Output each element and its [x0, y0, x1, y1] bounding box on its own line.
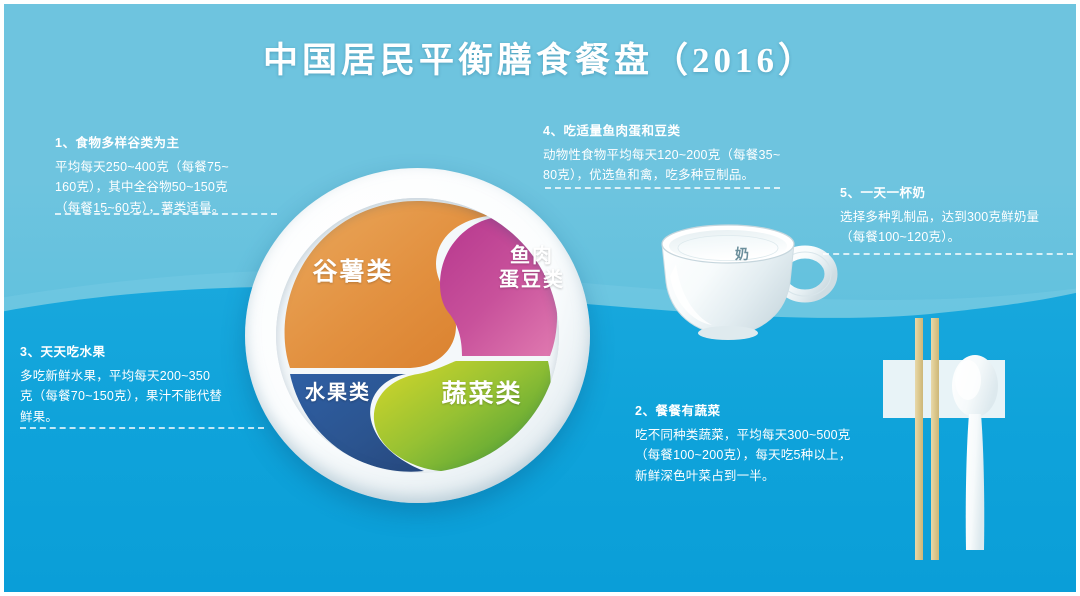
note-block-5: 5、一天一杯奶 选择多种乳制品，达到300克鲜奶量 （每餐100~120克）。	[840, 182, 1039, 248]
note-4-line-1: 动物性食物平均每天120~200克（每餐35~	[543, 145, 780, 165]
note-1-heading: 1、食物多样谷类为主	[55, 132, 229, 151]
note-5-line-2: （每餐100~120克）。	[840, 227, 1039, 247]
note-2-body: 吃不同种类蔬菜，平均每天300~500克 （每餐100~200克），每天吃5种以…	[635, 425, 851, 486]
cup-foot	[698, 326, 758, 340]
note-3-line-2: 克（每餐70~150克），果汁不能代替	[20, 386, 222, 406]
spoon-bowl-highlight	[955, 360, 981, 400]
note-5-line-1: 选择多种乳制品，达到300克鲜奶量	[840, 207, 1039, 227]
note-block-4: 4、吃适量鱼肉蛋和豆类 动物性食物平均每天120~200克（每餐35~ 80克）…	[543, 120, 780, 186]
note-1-line-1: 平均每天250~400克（每餐75~	[55, 157, 229, 177]
plate-inner-area	[276, 198, 559, 473]
note-block-1: 1、食物多样谷类为主 平均每天250~400克（每餐75~ 160克），其中全谷…	[55, 132, 229, 218]
note-4-heading: 4、吃适量鱼肉蛋和豆类	[543, 120, 780, 139]
note-4-body: 动物性食物平均每天120~200克（每餐35~ 80克），优选鱼和禽，吃多种豆制…	[543, 145, 780, 186]
note-block-3: 3、天天吃水果 多吃新鲜水果，平均每天200~350 克（每餐70~150克），…	[20, 341, 222, 427]
note-3-heading: 3、天天吃水果	[20, 341, 222, 360]
note-3-line-3: 鲜果。	[20, 407, 222, 427]
milk-cup-illustration	[650, 212, 850, 347]
note-1-body: 平均每天250~400克（每餐75~ 160克），其中全谷物50~150克 （每…	[55, 157, 229, 218]
balanced-plate-diagram	[245, 168, 590, 503]
note-1-line-3: （每餐15~60克），薯类适量。	[55, 198, 229, 218]
note-2-heading: 2、餐餐有蔬菜	[635, 400, 851, 419]
connector-line-note-5	[823, 253, 1073, 255]
note-3-body: 多吃新鲜水果，平均每天200~350 克（每餐70~150克），果汁不能代替 鲜…	[20, 366, 222, 427]
milk-cup-svg	[650, 212, 850, 347]
note-4-line-2: 80克），优选鱼和禽，吃多种豆制品。	[543, 165, 780, 185]
note-2-line-2: （每餐100~200克），每天吃5种以上，	[635, 445, 851, 465]
page-title: 中国居民平衡膳食餐盘（2016）	[0, 32, 1080, 83]
connector-line-note-4	[545, 187, 780, 189]
note-5-heading: 5、一天一杯奶	[840, 182, 1039, 201]
note-5-body: 选择多种乳制品，达到300克鲜奶量 （每餐100~120克）。	[840, 207, 1039, 248]
note-1-line-2: 160克），其中全谷物50~150克	[55, 177, 229, 197]
utensils-svg	[875, 318, 1075, 568]
chopstick-right	[931, 318, 939, 560]
note-3-line-1: 多吃新鲜水果，平均每天200~350	[20, 366, 222, 386]
chopstick-left	[915, 318, 923, 560]
milk-cup-label: 奶	[722, 244, 762, 264]
note-2-line-1: 吃不同种类蔬菜，平均每天300~500克	[635, 425, 851, 445]
spoon-handle	[966, 414, 985, 550]
utensils-illustration	[875, 318, 1075, 568]
plate-segments-svg	[276, 198, 559, 473]
note-block-2: 2、餐餐有蔬菜 吃不同种类蔬菜，平均每天300~500克 （每餐100~200克…	[635, 400, 851, 486]
poster-canvas: 中国居民平衡膳食餐盘（2016） 1、食物多样谷类为主 平均每天250~400克…	[0, 0, 1080, 596]
note-2-line-3: 新鲜深色叶菜占到一半。	[635, 466, 851, 486]
connector-line-note-3	[20, 427, 264, 429]
